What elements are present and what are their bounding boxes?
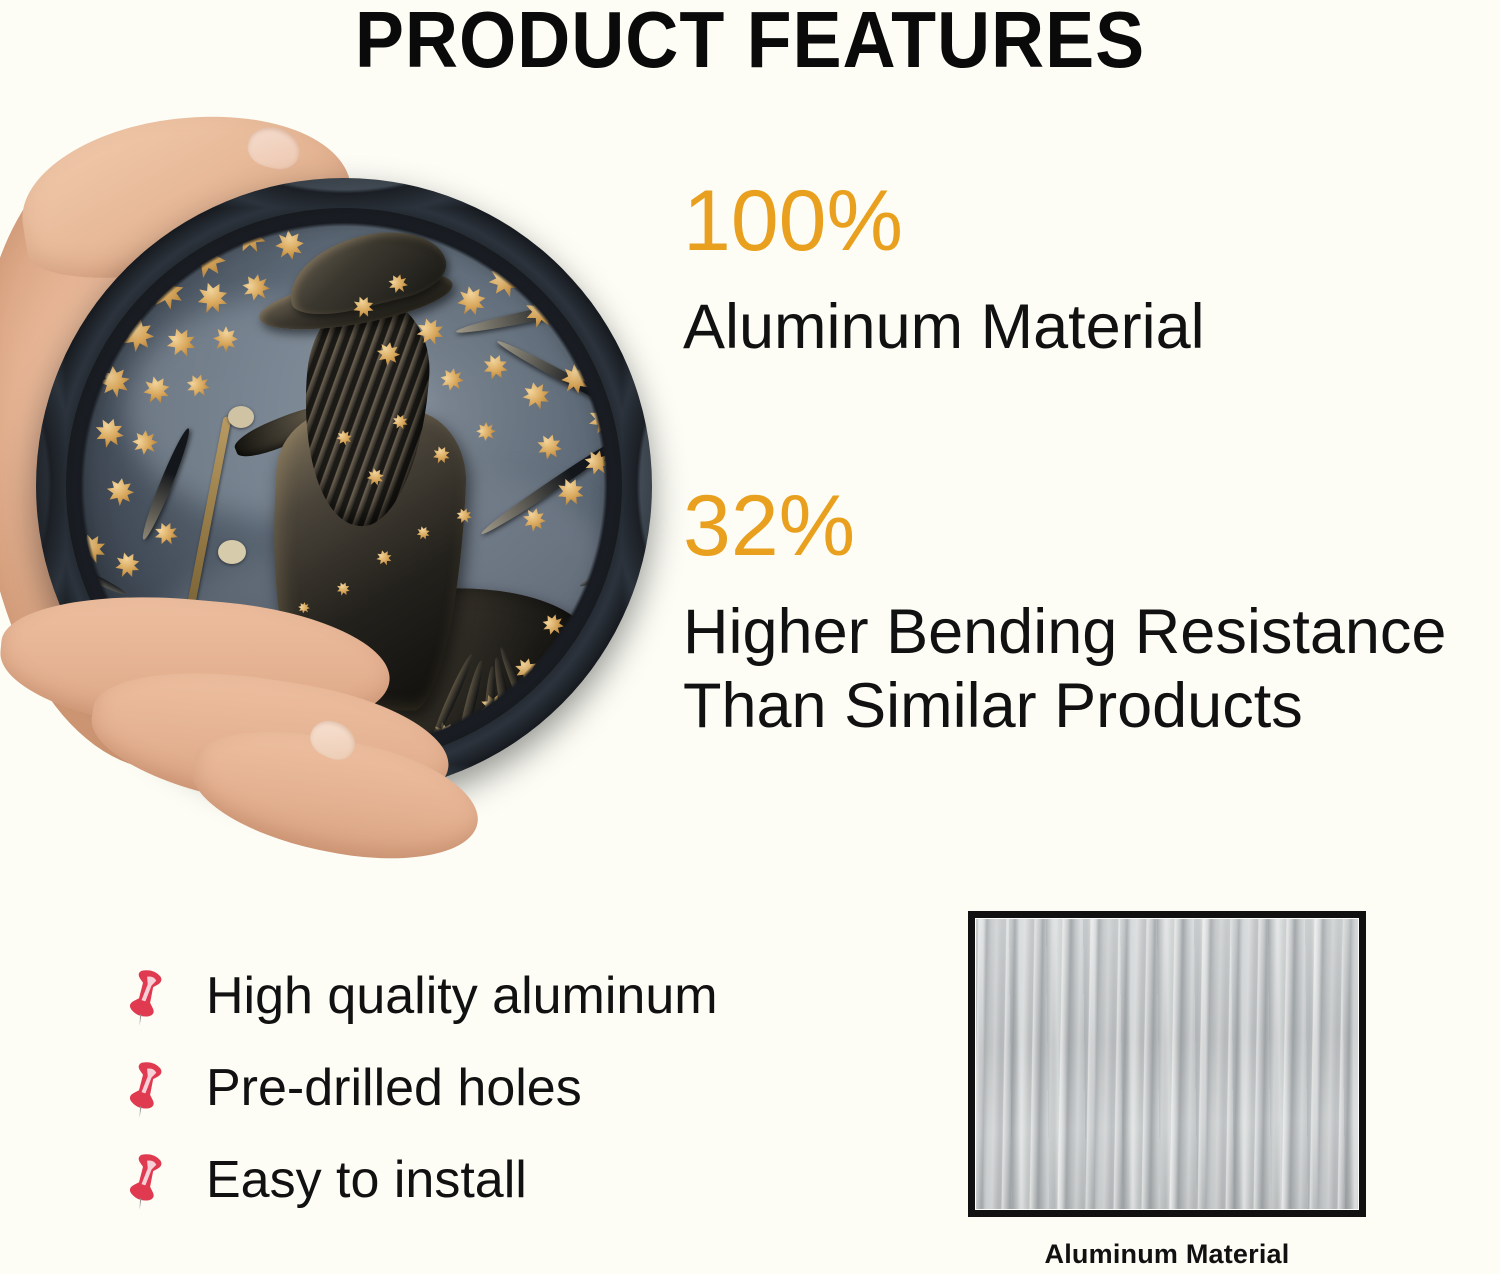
maple-leaf (146, 272, 187, 313)
maple-leaf (552, 474, 589, 511)
maple-leaf (453, 505, 474, 526)
stat-block-aluminum: 100% Aluminum Material (683, 178, 1205, 364)
maple-leaf (73, 531, 109, 567)
maple-leaf (519, 379, 552, 412)
maple-leaf (390, 412, 410, 432)
list-item: Easy to install (118, 1134, 718, 1226)
grass-blade (497, 646, 543, 742)
maple-leaf (519, 291, 560, 332)
mist-layer (336, 478, 616, 678)
maple-leaf (182, 234, 231, 283)
grass-blade (562, 572, 642, 633)
product-features-infographic: PRODUCT FEATURES (0, 0, 1500, 1274)
maple-leaf (150, 518, 181, 549)
witch-hat-brim (255, 261, 456, 340)
list-item: High quality aluminum (118, 950, 718, 1042)
maple-leaf (533, 431, 565, 463)
maple-leaf (109, 547, 145, 583)
maple-leaf (413, 523, 432, 542)
pushpin-icon (118, 1149, 172, 1211)
pushpin-icon (118, 965, 172, 1027)
maple-leaf (538, 610, 568, 640)
witch-arm (231, 396, 343, 463)
maple-leaf (162, 324, 200, 362)
stat-label: Aluminum Material (683, 290, 1205, 364)
maple-leaf (335, 429, 353, 447)
witch-hand (228, 406, 254, 428)
maple-leaf (268, 224, 310, 266)
branch (455, 286, 643, 337)
maple-leaf (374, 548, 393, 567)
maple-leaf (520, 506, 548, 534)
maple-leaf (182, 370, 214, 402)
maple-leaf (384, 270, 411, 297)
witch-hair (294, 291, 436, 531)
mist-layer (126, 298, 426, 518)
branch (495, 337, 641, 421)
maple-leaf (227, 215, 271, 259)
bullet-label: Easy to install (206, 1150, 527, 1210)
maple-leaf (334, 580, 352, 598)
grass-blade (578, 542, 652, 589)
branch (138, 426, 194, 542)
witch-hat (280, 218, 452, 325)
maple-leaf (478, 350, 512, 384)
grass-blade (428, 652, 475, 743)
bullet-label: Pre-drilled holes (206, 1058, 582, 1118)
maple-leaf (472, 418, 500, 446)
stat-percent: 100% (683, 178, 1205, 264)
maple-leaf (104, 476, 136, 508)
grass-blade (482, 666, 497, 750)
stat-percent: 32% (683, 483, 1446, 569)
maple-leaf (583, 399, 624, 440)
aluminum-swatch: Aluminum Material (968, 911, 1366, 1270)
maple-leaf (348, 292, 377, 321)
bullet-label: High quality aluminum (206, 966, 718, 1026)
maple-leaf (413, 315, 448, 350)
aluminum-texture-image (968, 911, 1366, 1217)
maple-leaf (485, 261, 524, 300)
maple-leaf (296, 600, 313, 617)
maple-leaf (435, 363, 468, 396)
witch-hand (218, 540, 246, 564)
maple-leaf (429, 443, 453, 467)
maple-leaf (450, 280, 492, 322)
maple-leaf (97, 365, 132, 400)
maple-leaf (127, 425, 164, 462)
pushpin-icon (118, 1057, 172, 1119)
list-item: Pre-drilled holes (118, 1042, 718, 1134)
maple-leaf (476, 690, 510, 724)
maple-leaf (117, 315, 157, 355)
maple-leaf (190, 276, 233, 319)
page-title: PRODUCT FEATURES (60, 0, 1440, 86)
maple-leaf (362, 464, 387, 489)
branch (393, 192, 612, 293)
swatch-caption: Aluminum Material (968, 1239, 1366, 1270)
product-photo (0, 100, 680, 830)
stat-label-line-1: Higher Bending Resistance (683, 595, 1446, 669)
maple-leaf (137, 371, 176, 410)
maple-leaf (207, 321, 244, 358)
grass-blade (47, 553, 128, 598)
stat-block-bending: 32% Higher Bending Resistance Than Simil… (683, 483, 1446, 744)
stat-label-line-2: Than Similar Products (683, 669, 1446, 743)
branch (478, 429, 633, 539)
grass-blade (491, 657, 518, 753)
maple-leaf (374, 340, 402, 368)
maple-leaf (237, 269, 276, 308)
grass-blade (454, 660, 486, 752)
maple-leaf (579, 445, 615, 481)
maple-leaf (90, 414, 128, 452)
maple-leaf (554, 358, 596, 400)
maple-leaf (578, 314, 619, 355)
maple-leaf (511, 655, 540, 684)
feature-bullet-list: High quality aluminum Pre-drilled holes (118, 950, 718, 1226)
